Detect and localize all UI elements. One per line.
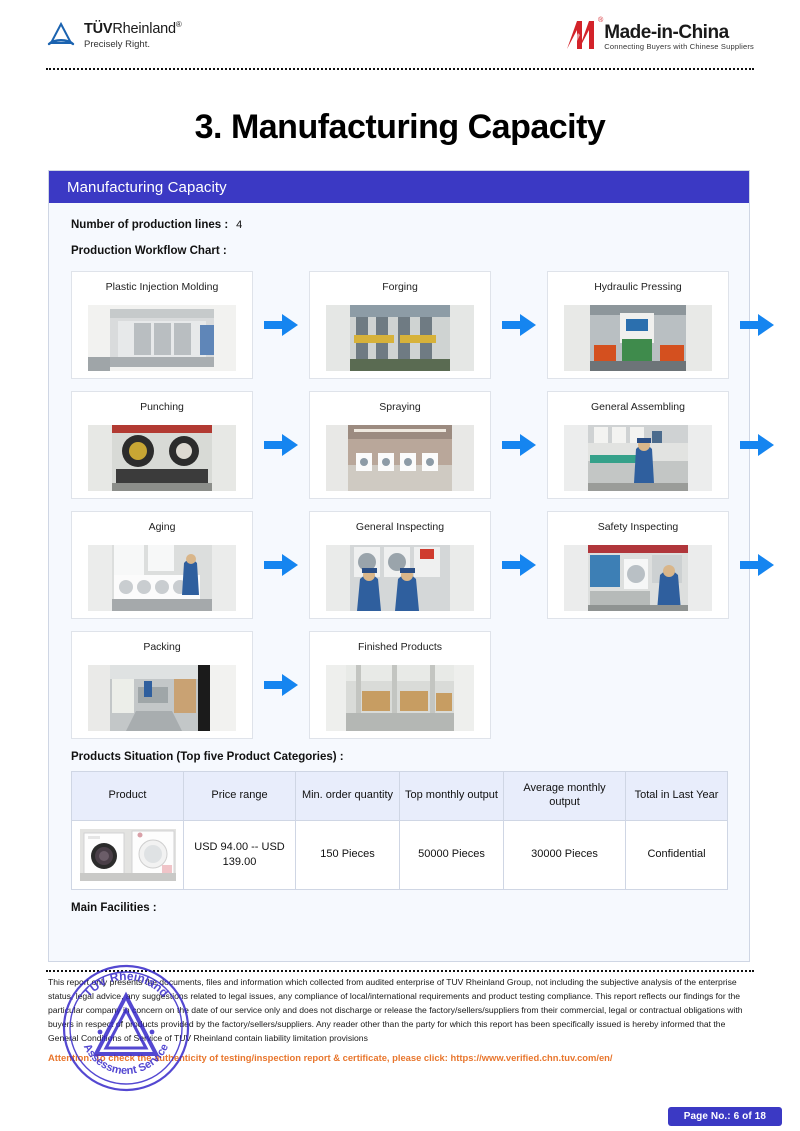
- workflow-step-thumbnail-spraying: [326, 425, 474, 491]
- tuv-triangle-icon: [46, 20, 76, 50]
- column-header-min-order-quantity: Min. order quantity: [296, 772, 400, 821]
- workflow-step-label: General Assembling: [591, 401, 685, 425]
- workflow-step-thumbnail-molding: [88, 305, 236, 371]
- workflow-step-forging: Forging: [309, 271, 491, 379]
- manufacturing-capacity-panel: Manufacturing Capacity Number of product…: [48, 170, 750, 962]
- workflow-step-label: Forging: [382, 281, 418, 305]
- disclaimer-attention-link[interactable]: Attention: To check the authenticity of …: [48, 1050, 750, 1065]
- footer-divider: [46, 970, 754, 972]
- mic-wordmark: Made-in-China: [604, 23, 754, 43]
- document-header: TÜVRheinland® Precisely Right. ® Made-in…: [0, 0, 800, 70]
- workflow-step-thumbnail-hydraulic: [564, 305, 712, 371]
- workflow-step-hydraulic-pressing: Hydraulic Pressing: [547, 271, 729, 379]
- production-lines-row: Number of production lines :4: [71, 219, 727, 231]
- tuv-tagline: Precisely Right.: [84, 40, 182, 51]
- cell-total-last-year: Confidential: [626, 820, 728, 889]
- workflow-step-thumbnail-forging: [326, 305, 474, 371]
- report-page: TÜVRheinland® Precisely Right. ® Made-in…: [0, 0, 800, 1131]
- products-situation-label: Products Situation (Top five Product Cat…: [71, 751, 727, 763]
- header-divider: [46, 68, 754, 70]
- disclaimer-block: This report only presents the documents,…: [48, 976, 750, 1065]
- workflow-step-plastic-injection-molding: Plastic Injection Molding: [71, 271, 253, 379]
- mic-tagline: Connecting Buyers with Chinese Suppliers: [604, 43, 754, 51]
- production-workflow-chart: Plastic Injection Molding: [71, 271, 727, 739]
- cell-product-image: [72, 820, 184, 889]
- mic-registered-mark: ®: [598, 17, 603, 24]
- workflow-row: Packing: [71, 631, 727, 739]
- cell-top-monthly-output: 50000 Pieces: [400, 820, 504, 889]
- workflow-step-label: General Inspecting: [356, 521, 444, 545]
- column-header-price-range: Price range: [184, 772, 296, 821]
- workflow-arrow: [253, 433, 309, 457]
- workflow-row: Plastic Injection Molding: [71, 271, 727, 379]
- workflow-step-thumbnail-aging: [88, 545, 236, 611]
- workflow-step-spraying: Spraying: [309, 391, 491, 499]
- workflow-step-label: Packing: [143, 641, 180, 665]
- column-header-total-last-year: Total in Last Year: [626, 772, 728, 821]
- column-header-average-monthly-output: Average monthly output: [504, 772, 626, 821]
- tuv-rheinland-logo: TÜVRheinland® Precisely Right.: [46, 20, 182, 51]
- workflow-row: Aging: [71, 511, 727, 619]
- workflow-arrow: [253, 313, 309, 337]
- page-title: 3. Manufacturing Capacity: [0, 108, 800, 147]
- workflow-arrow: [253, 673, 309, 697]
- workflow-step-thumbnail-finished: [326, 665, 474, 731]
- workflow-step-label: Aging: [149, 521, 176, 545]
- table-row: USD 94.00 -- USD 139.00 150 Pieces 50000…: [72, 820, 728, 889]
- production-lines-value: 4: [236, 219, 242, 231]
- workflow-step-packing: Packing: [71, 631, 253, 739]
- workflow-step-punching: Punching: [71, 391, 253, 499]
- workflow-step-thumbnail-packing: [88, 665, 236, 731]
- panel-body: Number of production lines :4 Production…: [49, 203, 749, 914]
- workflow-step-general-assembling: General Assembling: [547, 391, 729, 499]
- workflow-arrow: [729, 553, 785, 577]
- workflow-step-label: Plastic Injection Molding: [106, 281, 219, 305]
- workflow-step-label: Spraying: [379, 401, 420, 425]
- page-number-badge: Page No.: 6 of 18: [668, 1107, 782, 1126]
- workflow-step-thumbnail-assembling: [564, 425, 712, 491]
- workflow-step-label: Finished Products: [358, 641, 442, 665]
- disclaimer-text: This report only presents the documents,…: [48, 976, 750, 1046]
- workflow-arrow: [729, 433, 785, 457]
- production-lines-label: Number of production lines :: [71, 219, 228, 231]
- workflow-step-thumbnail-safety-inspect: [564, 545, 712, 611]
- workflow-row: Punching: [71, 391, 727, 499]
- workflow-step-finished-products: Finished Products: [309, 631, 491, 739]
- main-facilities-label: Main Facilities :: [71, 902, 727, 914]
- workflow-step-label: Punching: [140, 401, 184, 425]
- column-header-top-monthly-output: Top monthly output: [400, 772, 504, 821]
- workflow-arrow: [729, 313, 785, 337]
- workflow-arrow: [491, 313, 547, 337]
- workflow-arrow: [491, 553, 547, 577]
- workflow-chart-label: Production Workflow Chart :: [71, 245, 727, 257]
- column-header-product: Product: [72, 772, 184, 821]
- workflow-step-thumbnail-general-inspect: [326, 545, 474, 611]
- cell-min-order-quantity: 150 Pieces: [296, 820, 400, 889]
- workflow-step-thumbnail-punching: [88, 425, 236, 491]
- workflow-step-label: Hydraulic Pressing: [594, 281, 682, 305]
- cell-price-range: USD 94.00 -- USD 139.00: [184, 820, 296, 889]
- cell-average-monthly-output: 30000 Pieces: [504, 820, 626, 889]
- mic-m-icon: ®: [565, 19, 599, 51]
- tuv-wordmark: TÜVRheinland®: [84, 21, 182, 37]
- products-table: Product Price range Min. order quantity …: [71, 771, 728, 890]
- workflow-arrow: [491, 433, 547, 457]
- workflow-step-label: Safety Inspecting: [598, 521, 679, 545]
- workflow-step-safety-inspecting: Safety Inspecting: [547, 511, 729, 619]
- workflow-step-aging: Aging: [71, 511, 253, 619]
- made-in-china-logo: ® Made-in-China Connecting Buyers with C…: [565, 19, 754, 51]
- panel-header: Manufacturing Capacity: [49, 171, 749, 203]
- workflow-step-general-inspecting: General Inspecting: [309, 511, 491, 619]
- table-header-row: Product Price range Min. order quantity …: [72, 772, 728, 821]
- workflow-arrow: [253, 553, 309, 577]
- product-thumbnail-washing-machines: [80, 829, 176, 881]
